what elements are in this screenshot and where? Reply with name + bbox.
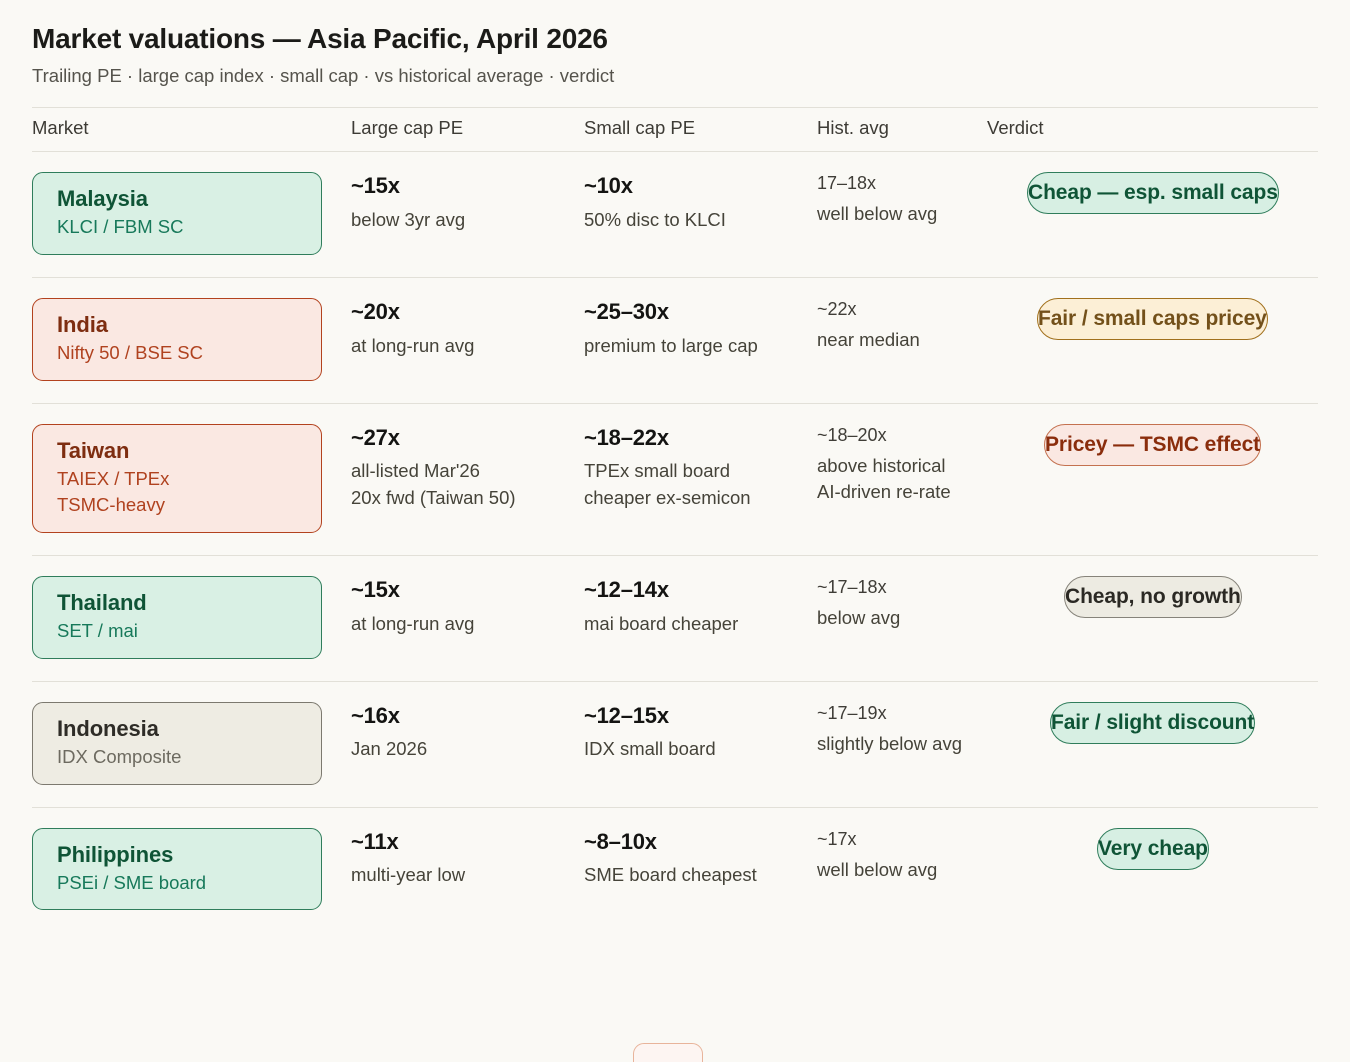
market-index-label: IDX Composite (57, 745, 305, 770)
market-card[interactable]: PhilippinesPSEi / SME board (32, 828, 322, 911)
pe-note: well below avg (817, 857, 987, 883)
pe-value: ~10x (584, 172, 817, 201)
pe-value: ~15x (351, 576, 584, 605)
cell-small-cap-pe: ~8–10xSME board cheapest (584, 807, 817, 932)
page-title: Market valuations — Asia Pacific, April … (32, 22, 1318, 55)
cell-small-cap-pe: ~12–15xIDX small board (584, 681, 817, 807)
column-header-large-cap-pe: Large cap PE (351, 108, 584, 152)
status-badge[interactable]: Pricey — TSMC effect (1044, 424, 1261, 466)
valuation-table-page: Market valuations — Asia Pacific, April … (0, 0, 1350, 1062)
pe-value: ~17–19x (817, 702, 987, 725)
pe-note: at long-run avg (351, 333, 584, 359)
market-card[interactable]: ThailandSET / mai (32, 576, 322, 659)
table-row: ThailandSET / mai~15xat long-run avg~12–… (32, 556, 1318, 682)
market-card[interactable]: TaiwanTAIEX / TPExTSMC-heavy (32, 424, 322, 533)
table-row: IndonesiaIDX Composite~16xJan 2026~12–15… (32, 681, 1318, 807)
pe-value: ~12–15x (584, 702, 817, 731)
cell-large-cap-pe: ~15xat long-run avg (351, 556, 584, 682)
cell-small-cap-pe: ~25–30xpremium to large cap (584, 277, 817, 403)
pe-note: multi-year low (351, 862, 584, 888)
pe-note: SME board cheapest (584, 862, 817, 888)
market-name: Taiwan (57, 437, 305, 465)
status-badge[interactable]: Fair / slight discount (1050, 702, 1255, 744)
market-name: Philippines (57, 841, 305, 869)
verdict-container: Pricey — TSMC effect (987, 424, 1318, 468)
cell-verdict: Cheap — esp. small caps (987, 152, 1318, 278)
cell-large-cap-pe: ~27xall-listed Mar'2620x fwd (Taiwan 50) (351, 403, 584, 555)
cell-small-cap-pe: ~10x50% disc to KLCI (584, 152, 817, 278)
market-card[interactable]: IndonesiaIDX Composite (32, 702, 322, 785)
market-name: Indonesia (57, 715, 305, 743)
clipped-next-row-card (633, 1043, 703, 1062)
cell-market: IndiaNifty 50 / BSE SC (32, 277, 351, 403)
cell-verdict: Fair / small caps pricey (987, 277, 1318, 403)
pe-note: below 3yr avg (351, 207, 584, 233)
pe-value: ~27x (351, 424, 584, 453)
market-index-label: Nifty 50 / BSE SC (57, 341, 305, 366)
pe-value: ~11x (351, 828, 584, 857)
verdict-container: Very cheap (987, 828, 1318, 872)
verdict-container: Fair / slight discount (987, 702, 1318, 746)
table-body: MalaysiaKLCI / FBM SC~15xbelow 3yr avg~1… (32, 152, 1318, 933)
page-subtitle: Trailing PE · large cap index · small ca… (32, 64, 1318, 87)
market-name: Thailand (57, 589, 305, 617)
cell-hist-avg: ~17–18xbelow avg (817, 556, 987, 682)
status-badge[interactable]: Fair / small caps pricey (1037, 298, 1268, 340)
cell-hist-avg: ~22xnear median (817, 277, 987, 403)
cell-market: MalaysiaKLCI / FBM SC (32, 152, 351, 278)
pe-note: slightly below avg (817, 731, 987, 757)
pe-value: ~16x (351, 702, 584, 731)
market-name: Malaysia (57, 185, 305, 213)
pe-note: 20x fwd (Taiwan 50) (351, 485, 584, 511)
market-index-label: SET / mai (57, 619, 305, 644)
pe-note: all-listed Mar'26 (351, 458, 584, 484)
cell-verdict: Pricey — TSMC effect (987, 403, 1318, 555)
cell-large-cap-pe: ~15xbelow 3yr avg (351, 152, 584, 278)
pe-value: ~20x (351, 298, 584, 327)
cell-verdict: Very cheap (987, 807, 1318, 932)
market-index-label: KLCI / FBM SC (57, 215, 305, 240)
cell-hist-avg: ~17xwell below avg (817, 807, 987, 932)
cell-market: PhilippinesPSEi / SME board (32, 807, 351, 932)
market-index-label: TSMC-heavy (57, 493, 305, 518)
cell-market: TaiwanTAIEX / TPExTSMC-heavy (32, 403, 351, 555)
cell-large-cap-pe: ~20xat long-run avg (351, 277, 584, 403)
cell-market: ThailandSET / mai (32, 556, 351, 682)
document-header: Market valuations — Asia Pacific, April … (32, 0, 1318, 87)
pe-value: ~8–10x (584, 828, 817, 857)
cell-verdict: Fair / slight discount (987, 681, 1318, 807)
table-row: TaiwanTAIEX / TPExTSMC-heavy~27xall-list… (32, 403, 1318, 555)
market-card[interactable]: MalaysiaKLCI / FBM SC (32, 172, 322, 255)
pe-note: 50% disc to KLCI (584, 207, 817, 233)
pe-note: IDX small board (584, 736, 817, 762)
pe-note: AI-driven re-rate (817, 479, 987, 505)
cell-large-cap-pe: ~11xmulti-year low (351, 807, 584, 932)
pe-note: Jan 2026 (351, 736, 584, 762)
pe-value: ~12–14x (584, 576, 817, 605)
cell-verdict: Cheap, no growth (987, 556, 1318, 682)
pe-note: near median (817, 327, 987, 353)
pe-note: at long-run avg (351, 611, 584, 637)
cell-hist-avg: ~18–20xabove historicalAI-driven re-rate (817, 403, 987, 555)
pe-note: mai board cheaper (584, 611, 817, 637)
pe-value: ~22x (817, 298, 987, 321)
cell-small-cap-pe: ~12–14xmai board cheaper (584, 556, 817, 682)
pe-note: well below avg (817, 201, 987, 227)
pe-note: cheaper ex-semicon (584, 485, 817, 511)
table-row: PhilippinesPSEi / SME board~11xmulti-yea… (32, 807, 1318, 932)
table-header: Market Large cap PE Small cap PE Hist. a… (32, 108, 1318, 152)
pe-value: ~17x (817, 828, 987, 851)
pe-note: below avg (817, 605, 987, 631)
status-badge[interactable]: Cheap, no growth (1064, 576, 1242, 618)
status-badge[interactable]: Cheap — esp. small caps (1027, 172, 1279, 214)
cell-hist-avg: ~17–19xslightly below avg (817, 681, 987, 807)
verdict-container: Cheap, no growth (987, 576, 1318, 620)
pe-value: 17–18x (817, 172, 987, 195)
pe-value: ~25–30x (584, 298, 817, 327)
pe-value: ~17–18x (817, 576, 987, 599)
table-row: IndiaNifty 50 / BSE SC~20xat long-run av… (32, 277, 1318, 403)
column-header-market: Market (32, 108, 351, 152)
pe-note: premium to large cap (584, 333, 817, 359)
cell-small-cap-pe: ~18–22xTPEx small boardcheaper ex-semico… (584, 403, 817, 555)
market-index-label: PSEi / SME board (57, 871, 305, 896)
cell-market: IndonesiaIDX Composite (32, 681, 351, 807)
verdict-container: Cheap — esp. small caps (987, 172, 1318, 216)
column-header-small-cap-pe: Small cap PE (584, 108, 817, 152)
pe-value: ~15x (351, 172, 584, 201)
pe-note: TPEx small board (584, 458, 817, 484)
status-badge[interactable]: Very cheap (1097, 828, 1209, 870)
pe-note: above historical (817, 453, 987, 479)
market-card[interactable]: IndiaNifty 50 / BSE SC (32, 298, 322, 381)
market-index-label: TAIEX / TPEx (57, 467, 305, 492)
table-row: MalaysiaKLCI / FBM SC~15xbelow 3yr avg~1… (32, 152, 1318, 278)
market-name: India (57, 311, 305, 339)
header-row: Market Large cap PE Small cap PE Hist. a… (32, 108, 1318, 152)
verdict-container: Fair / small caps pricey (987, 298, 1318, 342)
column-header-verdict: Verdict (987, 108, 1318, 152)
valuations-table: Market Large cap PE Small cap PE Hist. a… (32, 107, 1318, 932)
cell-large-cap-pe: ~16xJan 2026 (351, 681, 584, 807)
column-header-hist-avg: Hist. avg (817, 108, 987, 152)
pe-value: ~18–22x (584, 424, 817, 453)
cell-hist-avg: 17–18xwell below avg (817, 152, 987, 278)
pe-value: ~18–20x (817, 424, 987, 447)
